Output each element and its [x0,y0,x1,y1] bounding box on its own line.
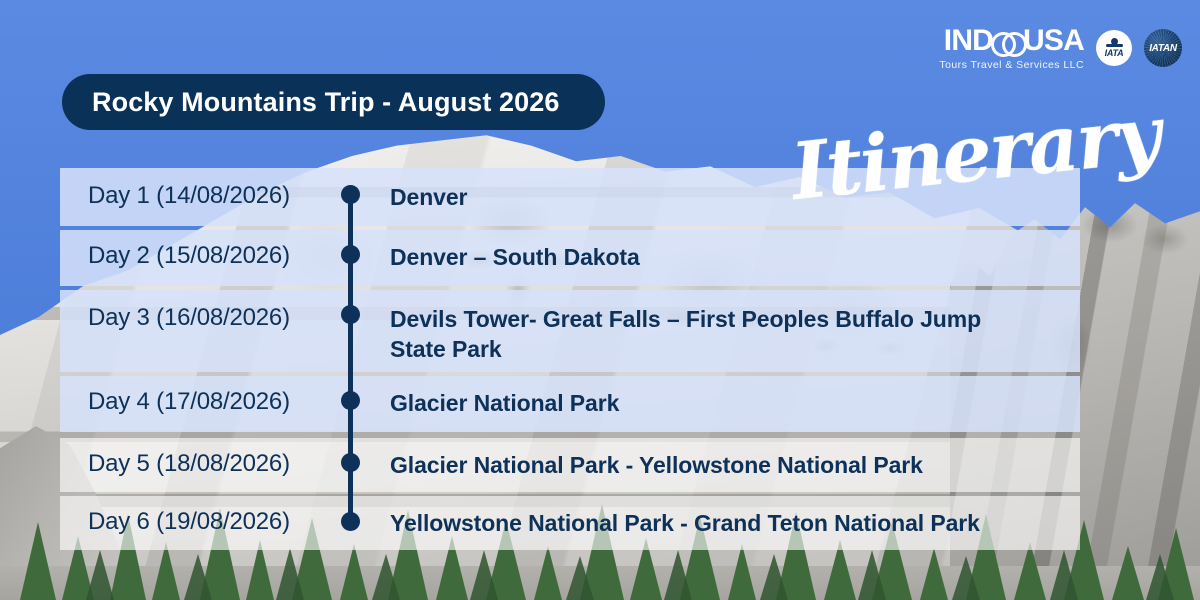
winged-globe-icon [1106,38,1123,48]
itinerary-poster: INDUSA Tours Travel & Services LLC IATA … [0,0,1200,600]
timeline-spine [348,194,353,522]
logo-name: INDUSA [939,26,1084,56]
trip-title-banner: Rocky Mountains Trip - August 2026 [62,74,605,130]
logo-tagline: Tours Travel & Services LLC [939,60,1084,71]
timeline-dot-day-4 [341,391,360,410]
page-title: Rocky Mountains Trip - August 2026 [92,87,559,118]
timeline-dot-day-6 [341,512,360,531]
timeline-dot-day-2 [341,245,360,264]
iata-badge: IATA [1096,30,1132,66]
logo-name-part1: IND [944,24,993,57]
iatan-badge: IATAN [1144,29,1182,67]
timeline-dot-day-1 [341,185,360,204]
infinity-logo-mark-icon [993,31,1023,53]
company-logo[interactable]: INDUSA Tours Travel & Services LLC IATA … [939,26,1182,71]
timeline-dot-day-3 [341,305,360,324]
logo-name-part2: USA [1023,24,1084,57]
timeline-dot-day-5 [341,453,360,472]
logo-wordmark: INDUSA Tours Travel & Services LLC [939,26,1084,71]
iatan-badge-label: IATAN [1149,43,1177,54]
iata-badge-label: IATA [1105,49,1124,58]
